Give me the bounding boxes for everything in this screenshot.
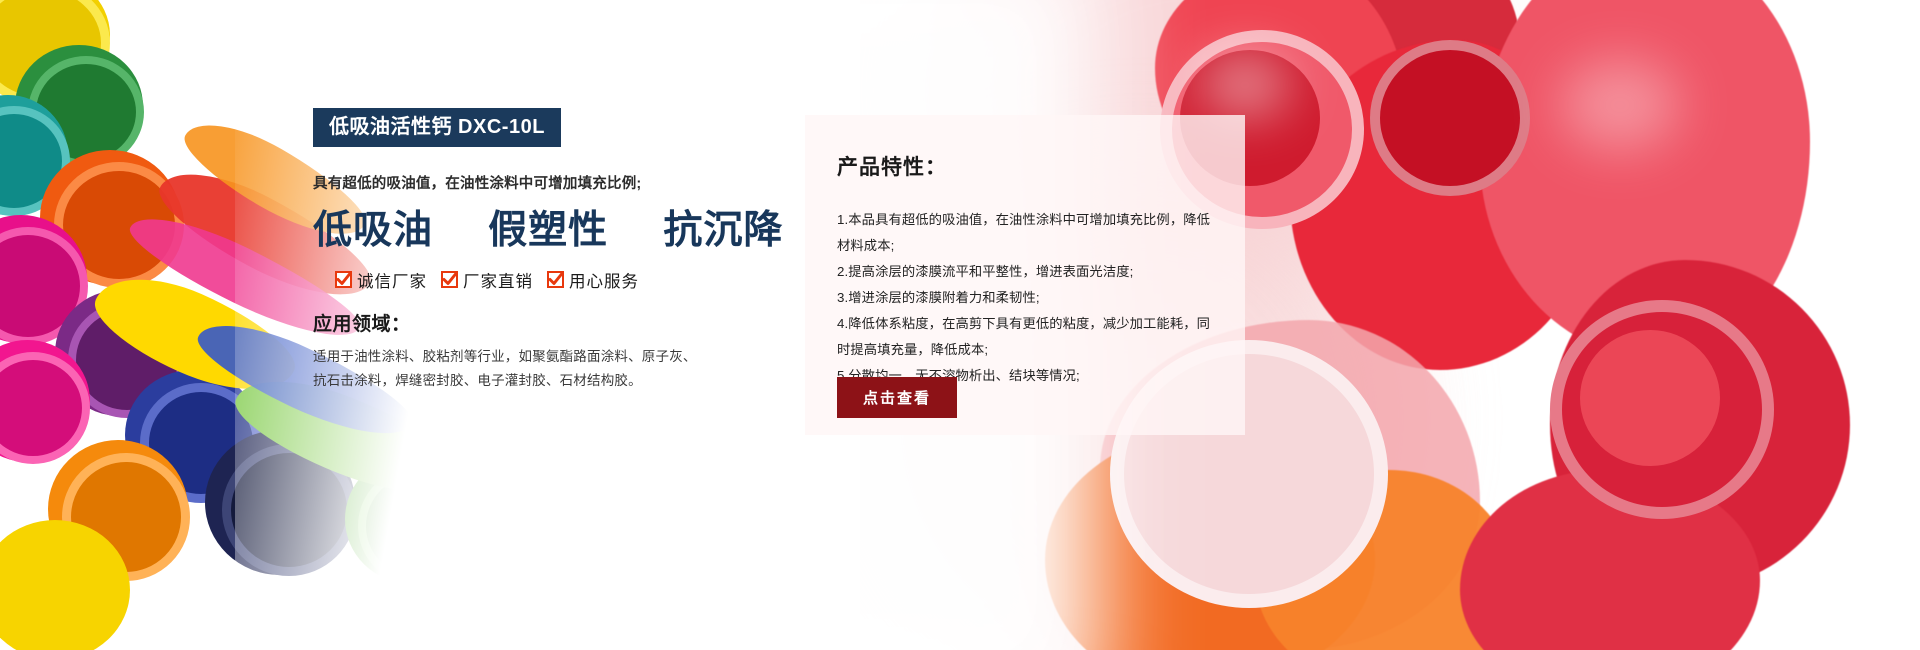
feature-item-1: 1.本品具有超低的吸油值，在油性涂料中可增加填充比例，降低材料成本;: [837, 207, 1215, 259]
product-features-panel: 产品特性： 1.本品具有超低的吸油值，在油性涂料中可增加填充比例，降低材料成本;…: [805, 115, 1245, 435]
product-features-inner: 产品特性： 1.本品具有超低的吸油值，在油性涂料中可增加填充比例，降低材料成本;…: [805, 115, 1245, 388]
feature-item-2: 2.提高涂层的漆膜流平和平整性，增进表面光洁度;: [837, 259, 1215, 285]
application-heading: 应用领域：: [313, 309, 733, 336]
trust-badge-label-2: 厂家直销: [463, 268, 533, 292]
checkbox-checked-icon: [547, 271, 564, 288]
banner-content: 低吸油活性钙 DXC-10L 具有超低的吸油值，在油性涂料中可增加填充比例; 低…: [313, 108, 733, 394]
trust-badge-row: 诚信厂家 厂家直销 用心服务: [313, 268, 733, 292]
trust-badge-label-3: 用心服务: [569, 268, 639, 292]
trust-badge-1: 诚信厂家: [335, 268, 427, 292]
paint-dish-red-right-inner: [1580, 330, 1720, 466]
checkbox-checked-icon: [441, 271, 458, 288]
headline-word-2: 假塑性: [488, 207, 608, 253]
product-features-list: 1.本品具有超低的吸油值，在油性涂料中可增加填充比例，降低材料成本; 2.提高涂…: [837, 207, 1215, 388]
view-details-button[interactable]: 点击查看: [837, 377, 957, 418]
checkbox-checked-icon: [335, 271, 352, 288]
feature-item-4: 4.降低体系粘度，在高剪下具有更低的粘度，减少加工能耗，同时提高填充量，降低成本…: [837, 311, 1215, 363]
trust-badge-3: 用心服务: [547, 268, 639, 292]
feature-headline: 低吸油 假塑性 抗沉降: [313, 209, 733, 251]
application-description: 适用于油性涂料、胶粘剂等行业，如聚氨酯路面涂料、原子灰、抗石击涂料，焊缝密封胶、…: [313, 345, 708, 395]
product-features-heading: 产品特性：: [837, 151, 1215, 181]
paint-gloss-highlight-1: [1200, 55, 1290, 115]
product-subtitle: 具有超低的吸油值，在油性涂料中可增加填充比例;: [313, 176, 733, 193]
feature-item-3: 3.增进涂层的漆膜附着力和柔韧性;: [837, 285, 1215, 311]
trust-badge-2: 厂家直销: [441, 268, 533, 292]
trust-badge-label-1: 诚信厂家: [357, 268, 427, 292]
headline-word-3: 抗沉降: [663, 207, 783, 253]
paint-gloss-highlight-2: [1560, 60, 1680, 150]
product-banner: 低吸油活性钙 DXC-10L 具有超低的吸油值，在油性涂料中可增加填充比例; 低…: [0, 0, 1920, 650]
headline-word-1: 低吸油: [313, 207, 433, 253]
product-title-badge: 低吸油活性钙 DXC-10L: [313, 108, 561, 147]
paint-dish-crimson: [1370, 40, 1530, 196]
